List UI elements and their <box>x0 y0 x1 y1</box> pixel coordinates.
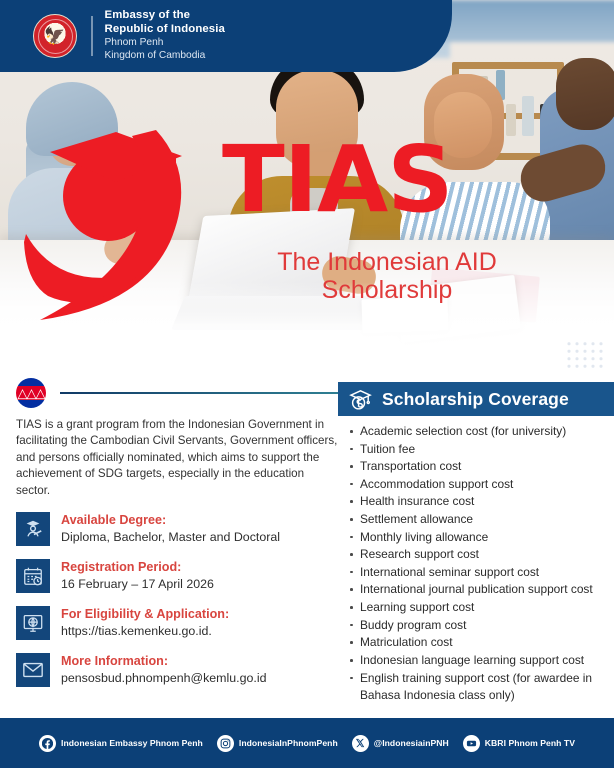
intro-paragraph: TIAS is a grant program from the Indones… <box>16 417 338 499</box>
tias-logo-block: TIAS The Indonesian AID Scholarship <box>0 112 614 322</box>
embassy-header: 🦅 Embassy of the Republic of Indonesia P… <box>0 0 452 72</box>
social-facebook[interactable]: Indonesian Embassy Phnom Penh <box>39 735 203 752</box>
detail-heading: More Information: <box>61 653 266 669</box>
x-twitter-icon <box>352 735 369 752</box>
detail-row-registration-period: Registration Period: 16 February – 17 Ap… <box>16 559 338 593</box>
social-footer: Indonesian Embassy Phnom Penh IndonesiaI… <box>0 718 614 768</box>
list-item: English training support cost (for award… <box>350 670 614 705</box>
detail-heading: Registration Period: <box>61 559 214 575</box>
list-item: Matriculation cost <box>350 634 614 652</box>
intro-flag-row: △△△ <box>16 378 338 408</box>
list-item: International seminar support cost <box>350 564 614 582</box>
detail-value: 16 February – 17 April 2026 <box>61 576 214 593</box>
photo-wall-accent-2 <box>430 0 614 42</box>
globe-monitor-icon <box>16 606 50 640</box>
right-column: Scholarship Coverage Academic selection … <box>338 382 614 705</box>
graduate-swoosh-logo-icon <box>20 130 232 326</box>
tias-tagline-line-1: The Indonesian AID <box>222 248 552 277</box>
social-instagram[interactable]: IndonesiaInPhnomPenh <box>217 735 338 752</box>
detail-text-block: Available Degree: Diploma, Bachelor, Mas… <box>61 512 280 546</box>
detail-value[interactable]: pensosbud.phnompenh@kemlu.go.id <box>61 670 266 687</box>
indonesia-garuda-emblem-icon: 🦅 <box>33 14 77 58</box>
detail-row-available-degree: Available Degree: Diploma, Bachelor, Mas… <box>16 512 338 546</box>
youtube-icon <box>463 735 480 752</box>
list-item: Monthly living allowance <box>350 529 614 547</box>
list-item: Settlement allowance <box>350 511 614 529</box>
list-item: Indonesian language learning support cos… <box>350 652 614 670</box>
detail-text-block: More Information: pensosbud.phnompenh@ke… <box>61 653 266 687</box>
detail-heading: Available Degree: <box>61 512 280 528</box>
header-divider <box>91 16 93 56</box>
graduate-diploma-icon <box>16 512 50 546</box>
social-label: IndonesiaInPhnomPenh <box>239 738 338 748</box>
social-label: KBRI Phnom Penh TV <box>485 738 575 748</box>
detail-text-block: For Eligibility & Application: https://t… <box>61 606 229 640</box>
social-x-twitter[interactable]: @IndonesiainPNH <box>352 735 449 752</box>
list-item: Accommodation support cost <box>350 476 614 494</box>
cambodia-flag-icon: △△△ <box>16 378 46 408</box>
social-label: @IndonesiainPNH <box>374 738 449 748</box>
section-divider-line <box>60 392 338 394</box>
detail-value[interactable]: https://tias.kemenkeu.go.id. <box>61 623 229 640</box>
detail-value: Diploma, Bachelor, Master and Doctoral <box>61 529 280 546</box>
tias-wordmark: TIAS <box>222 134 452 226</box>
embassy-line-1: Embassy of the <box>105 9 225 23</box>
list-item: Buddy program cost <box>350 617 614 635</box>
calendar-clock-icon <box>16 559 50 593</box>
list-item: Research support cost <box>350 546 614 564</box>
embassy-title-block: Embassy of the Republic of Indonesia Phn… <box>105 9 225 63</box>
envelope-icon <box>16 653 50 687</box>
tias-tagline-line-2: Scholarship <box>222 276 552 305</box>
coverage-list: Academic selection cost (for university)… <box>338 423 614 705</box>
list-item: Health insurance cost <box>350 493 614 511</box>
dot-grid-decoration <box>565 340 605 370</box>
embassy-line-3: Phnom Penh <box>105 37 225 50</box>
embassy-line-4: Kingdom of Cambodia <box>105 50 225 63</box>
scholarship-coverage-title: Scholarship Coverage <box>382 389 569 410</box>
list-item: Academic selection cost (for university) <box>350 423 614 441</box>
scholarship-poster: 🦅 Embassy of the Republic of Indonesia P… <box>0 0 614 768</box>
detail-row-more-information: More Information: pensosbud.phnompenh@ke… <box>16 653 338 687</box>
detail-heading: For Eligibility & Application: <box>61 606 229 622</box>
scholarship-coverage-banner: Scholarship Coverage <box>338 382 614 416</box>
detail-text-block: Registration Period: 16 February – 17 Ap… <box>61 559 214 593</box>
graduation-cap-dollar-icon <box>348 387 373 412</box>
left-column: △△△ TIAS is a grant program from the Ind… <box>16 378 338 687</box>
social-label: Indonesian Embassy Phnom Penh <box>61 738 203 748</box>
list-item: Transportation cost <box>350 458 614 476</box>
detail-row-eligibility-application: For Eligibility & Application: https://t… <box>16 606 338 640</box>
facebook-icon <box>39 735 56 752</box>
list-item: International journal publication suppor… <box>350 581 614 599</box>
embassy-line-2: Republic of Indonesia <box>105 23 225 37</box>
list-item: Learning support cost <box>350 599 614 617</box>
list-item: Tuition fee <box>350 441 614 459</box>
instagram-icon <box>217 735 234 752</box>
social-youtube[interactable]: KBRI Phnom Penh TV <box>463 735 575 752</box>
